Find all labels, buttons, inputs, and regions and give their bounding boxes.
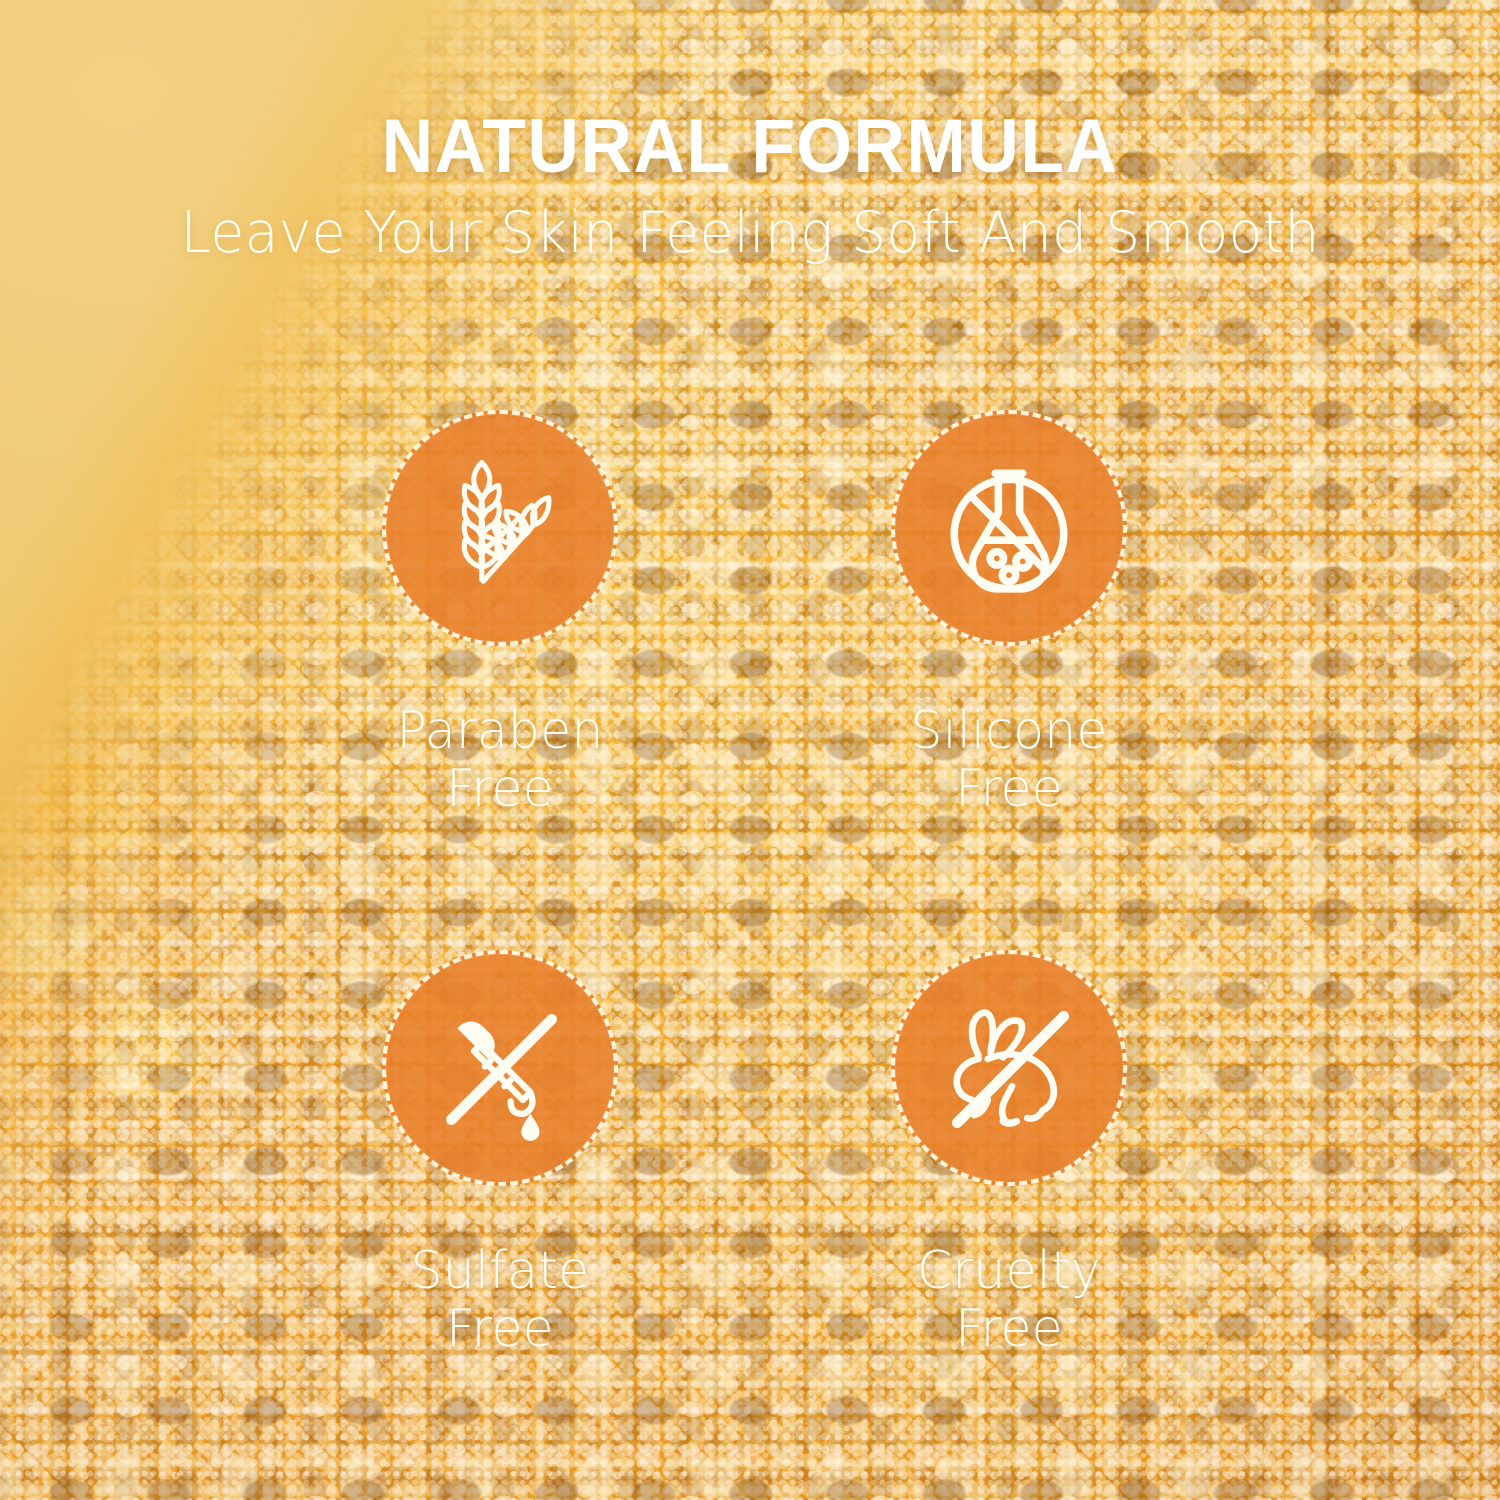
badge-label-line1: Paraben [396,701,603,761]
badge-label-sulfate: Sulfate Free [258,1242,743,1358]
badge-label-line1: Cruelty [917,1241,1101,1301]
badge-circle-silicone [891,410,1127,646]
feature-item-silicone-free: Silicone Free [759,410,1259,818]
badge-label-line1: Sulfate [411,1241,590,1301]
badge-label-line2: Free [767,1300,1252,1358]
header-block: NATURAL FORMULA Leave Your Skin Feeling … [0,108,1500,263]
page-title: NATURAL FORMULA [45,108,1455,186]
no-flask-chemical-icon [933,452,1085,604]
badge-circle-paraben [382,410,618,646]
no-dropper-pipette-icon [424,992,576,1144]
wheat-grain-icon [424,452,576,604]
badge-circle-cruelty [891,950,1127,1186]
badge-circle-sulfate [382,950,618,1186]
badge-label-line2: Free [258,760,743,818]
badge-label-cruelty: Cruelty Free [767,1242,1252,1358]
product-feature-banner: NATURAL FORMULA Leave Your Skin Feeling … [0,0,1500,1500]
feature-item-paraben-free: Paraben Free [250,410,750,818]
page-subtitle: Leave Your Skin Feeling Soft And Smooth [23,204,1478,264]
no-rabbit-cruelty-icon [933,992,1085,1144]
badge-label-line1: Silicone [910,701,1107,761]
badge-label-line2: Free [258,1300,743,1358]
feature-item-sulfate-free: Sulfate Free [250,950,750,1358]
badge-label-silicone: Silicone Free [767,702,1252,818]
badge-label-line2: Free [767,760,1252,818]
feature-item-cruelty-free: Cruelty Free [759,950,1259,1358]
badge-label-paraben: Paraben Free [258,702,743,818]
